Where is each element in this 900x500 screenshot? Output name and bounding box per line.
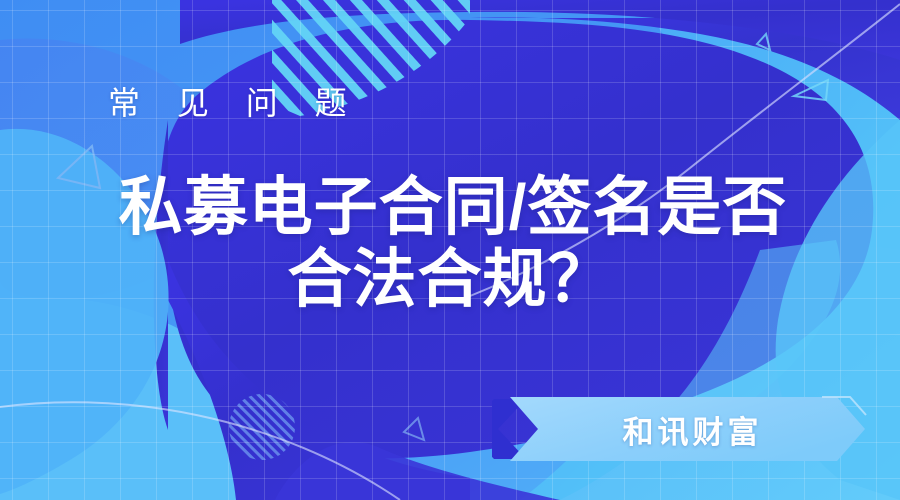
striped-circle: [229, 394, 295, 460]
triangle-outline-bottom-center: [404, 418, 424, 440]
page-title: 私募电子合同/签名是否 合法合规？: [0, 172, 900, 315]
triangle-outline-top-right: [794, 80, 828, 100]
deep-blue-blob-top-extension: [470, 18, 900, 120]
page-title-line-2: 合法合规？: [0, 244, 900, 316]
brand-banner: 和讯财富: [492, 393, 867, 465]
poster-canvas: 常 见 问 题 私募电子合同/签名是否 合法合规？ 和讯财富: [0, 0, 900, 500]
triangle-outline-small-top-right: [757, 34, 770, 50]
eyebrow-label: 常 见 问 题: [108, 78, 361, 124]
arc-line-bottom-left: [0, 402, 400, 500]
brand-banner-label: 和讯财富: [492, 393, 867, 465]
deep-blue-top-band: [180, 0, 900, 60]
page-title-line-1: 私募电子合同/签名是否: [0, 172, 900, 244]
light-blob-bottom-left: [0, 297, 297, 500]
